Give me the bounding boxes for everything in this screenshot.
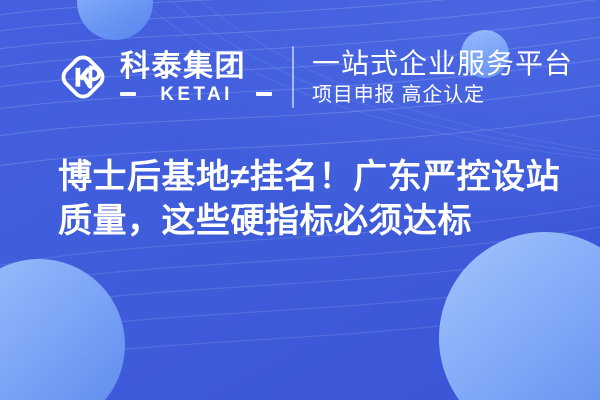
banner-header: 科泰集团 KETAI 一站式企业服务平台 项目申报 高企认定 bbox=[0, 38, 600, 116]
headline-line-1: 博士后基地≠挂名！广东严控设站 bbox=[58, 155, 558, 199]
brand-name-en-row: KETAI bbox=[120, 85, 272, 104]
brand-logo[interactable]: 科泰集团 KETAI bbox=[55, 49, 272, 105]
dash-right-icon bbox=[256, 92, 272, 96]
brand-name-en: KETAI bbox=[142, 85, 251, 104]
dash-left-icon bbox=[120, 92, 136, 96]
tagline-secondary: 项目申报 高企认定 bbox=[312, 83, 573, 107]
headline: 博士后基地≠挂名！广东严控设站 质量，这些硬指标必须达标 bbox=[58, 155, 558, 243]
tagline-primary: 一站式企业服务平台 bbox=[312, 48, 573, 80]
ketai-diamond-kp-monogram-icon bbox=[55, 49, 111, 105]
brand-tagline: 一站式企业服务平台 项目申报 高企认定 bbox=[312, 48, 573, 107]
brand-name-cn: 科泰集团 bbox=[120, 51, 272, 82]
promo-banner: 科泰集团 KETAI 一站式企业服务平台 项目申报 高企认定 博士后基地≠挂名！… bbox=[0, 0, 600, 400]
headline-line-2: 质量，这些硬指标必须达标 bbox=[58, 199, 558, 243]
brand-wordmark: 科泰集团 KETAI bbox=[120, 51, 272, 104]
vertical-divider-icon bbox=[292, 46, 294, 108]
